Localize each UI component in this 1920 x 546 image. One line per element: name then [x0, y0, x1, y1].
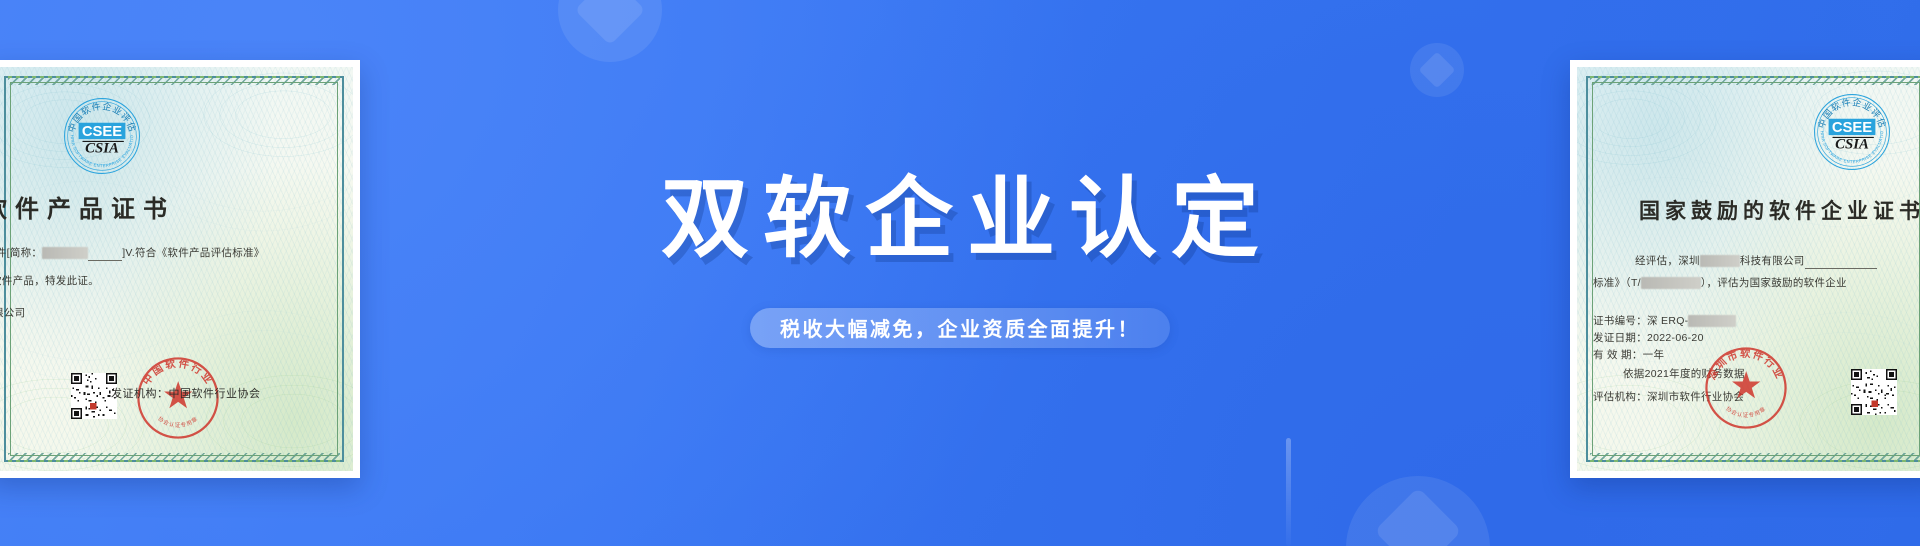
- banner-center-content: 双软企业认定 税收大幅减免，企业资质全面提升！: [0, 0, 1920, 546]
- promo-banner: 中国软件企业评估 CHINA SOFTWARE ENTERPRISE EVALU…: [0, 0, 1920, 546]
- subtitle-badge: 税收大幅减免，企业资质全面提升！: [750, 308, 1170, 348]
- page-title: 双软企业认定: [647, 172, 1273, 265]
